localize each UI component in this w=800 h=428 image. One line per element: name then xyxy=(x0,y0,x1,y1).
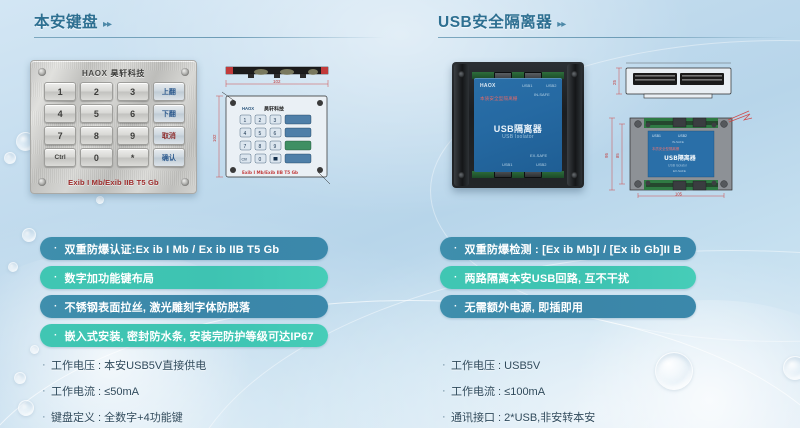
svg-text:HAOX: HAOX xyxy=(242,106,254,111)
bullet-icon: · xyxy=(54,301,58,312)
bullet-icon: · xyxy=(42,359,51,371)
bullet-icon: · xyxy=(454,272,458,283)
keypad-key[interactable]: 8 xyxy=(80,126,112,145)
svg-text:Ctrl: Ctrl xyxy=(242,158,248,162)
feature-pill: · 两路隔离本安USB回路, 互不干扰 xyxy=(440,266,696,289)
spec-item: · 工作电流 : ≤50mA xyxy=(42,383,206,399)
usb-port-label: USB2 xyxy=(546,83,556,88)
spec-text: 工作电流 : ≤100mA xyxy=(451,383,545,399)
bullet-icon: · xyxy=(454,243,458,254)
spec-item: · 工作电压 : 本安USB5V直接供电 xyxy=(42,357,206,373)
chevron-right-icon: ▸▸ xyxy=(103,19,111,30)
spec-text: 工作电流 : ≤50mA xyxy=(51,383,139,399)
water-droplet xyxy=(30,345,39,354)
feature-text: 双重防爆检测 : [Ex ib Mb]I / [Ex ib Gb]II B xyxy=(465,241,682,257)
feature-pill: · 不锈钢表面拉丝, 激光雕刻字体防脱落 xyxy=(40,295,328,318)
svg-text:102: 102 xyxy=(212,134,217,142)
usb-port-label: EX-SAFE xyxy=(530,153,547,158)
header-divider xyxy=(438,37,788,38)
feature-pill: · 嵌入式安装, 密封防水条, 安装完防护等级可达IP67 xyxy=(40,324,328,347)
keypad-certification-label: Exib I Mb/Exib IIB T5 Gb xyxy=(31,178,196,187)
water-droplet xyxy=(14,372,26,384)
svg-text:USB Isolator: USB Isolator xyxy=(668,164,688,168)
svg-text:85: 85 xyxy=(615,153,620,158)
chevron-right-icon: ▸▸ xyxy=(557,19,565,30)
keypad-key[interactable]: 3 xyxy=(117,82,149,101)
usb-faceplate: HAOX 本质安全型隔离栅 USB1 USB2 IN-SAFE USB隔离器 U… xyxy=(474,78,562,172)
spec-item: · 工作电压 : USB5V xyxy=(442,357,595,373)
slide-canvas: 本安键盘 ▸▸ USB安全隔离器 ▸▸ HAOX昊轩科技 1 2 3 上翻 4 … xyxy=(0,0,800,428)
section-header-keypad: 本安键盘 ▸▸ xyxy=(34,10,384,38)
water-droplet xyxy=(655,352,693,390)
product-photo-usb-isolator: HAOX 本质安全型隔离栅 USB1 USB2 IN-SAFE USB隔离器 U… xyxy=(452,62,584,188)
product-photo-keypad: HAOX昊轩科技 1 2 3 上翻 4 5 6 下翻 7 8 9 取消 Ctrl… xyxy=(30,60,197,194)
bullet-icon: · xyxy=(54,243,58,254)
feature-text: 双重防爆认证:Ex ib I Mb / Ex ib IIB T5 Gb xyxy=(65,241,280,257)
spec-list-usb: · 工作电压 : USB5V · 工作电流 : ≤100mA · 通讯接口 : … xyxy=(442,357,595,425)
keypad-key[interactable]: 0 xyxy=(80,148,112,167)
svg-text:IN-SAFE: IN-SAFE xyxy=(672,140,684,144)
svg-text:7: 7 xyxy=(244,144,247,150)
svg-text:4: 4 xyxy=(244,131,247,137)
usb-product-subtitle: USB Isolator xyxy=(474,134,562,140)
usb-mount-rail-right xyxy=(567,64,582,186)
usb-brand-logo: HAOX xyxy=(480,83,496,89)
svg-text:2: 2 xyxy=(259,118,262,124)
keypad-key-page-down[interactable]: 下翻 xyxy=(153,104,185,123)
bullet-icon: · xyxy=(42,385,51,397)
bullet-icon: · xyxy=(442,385,451,397)
keypad-key[interactable]: 2 xyxy=(80,82,112,101)
water-droplet xyxy=(18,400,34,416)
mount-hole-icon xyxy=(571,172,578,179)
usb-port-label: USB1 xyxy=(502,162,512,167)
bullet-icon: · xyxy=(42,411,51,423)
spec-text: 工作电压 : USB5V xyxy=(451,357,540,373)
water-droplet xyxy=(8,262,18,272)
spec-text: 工作电压 : 本安USB5V直接供电 xyxy=(51,357,206,373)
spec-text: 通讯接口 : 2*USB,非安转本安 xyxy=(451,409,595,425)
feature-text: 不锈钢表面拉丝, 激光雕刻字体防脱落 xyxy=(65,299,251,315)
feature-pill: · 无需额外电源, 即插即用 xyxy=(440,295,696,318)
usb-port-label: IN-SAFE xyxy=(534,92,550,97)
bullet-icon: · xyxy=(442,411,451,423)
keypad-key-cancel[interactable]: 取消 xyxy=(153,126,185,145)
svg-text:5: 5 xyxy=(259,131,262,137)
spec-item: · 键盘定义 : 全数字+4功能键 xyxy=(42,409,206,425)
usb-port-label: USB2 xyxy=(536,162,546,167)
keypad-key[interactable]: 4 xyxy=(44,104,76,123)
svg-text:25: 25 xyxy=(612,79,617,85)
svg-text:USB2: USB2 xyxy=(678,134,687,138)
svg-text:EX-SAFE: EX-SAFE xyxy=(673,169,686,173)
water-droplet xyxy=(4,152,16,164)
svg-text:USB1: USB1 xyxy=(652,134,661,138)
bullet-icon: · xyxy=(54,272,58,283)
usb-mount-rail-left xyxy=(454,64,469,186)
keypad-key[interactable]: 9 xyxy=(117,126,149,145)
svg-text:105: 105 xyxy=(675,192,683,197)
feature-text: 两路隔离本安USB回路, 互不干扰 xyxy=(465,270,630,286)
usb-red-caption: 本质安全型隔离栅 xyxy=(480,96,518,102)
feature-list-usb: · 双重防爆检测 : [Ex ib Mb]I / [Ex ib Gb]II B … xyxy=(440,237,696,318)
water-droplet xyxy=(96,196,104,204)
svg-text:0: 0 xyxy=(259,157,262,163)
usb-drawing-svg: 25 USB1 USB2 IN-SAFE 本质安全型隔离栅 USB隔离器 USB… xyxy=(600,58,796,198)
svg-text:3: 3 xyxy=(274,118,277,124)
spec-item: · 通讯接口 : 2*USB,非安转本安 xyxy=(442,409,595,425)
spec-list-keypad: · 工作电压 : 本安USB5V直接供电 · 工作电流 : ≤50mA · 键盘… xyxy=(42,357,206,425)
keypad-key-grid: 1 2 3 上翻 4 5 6 下翻 7 8 9 取消 Ctrl 0 * 确认 xyxy=(44,82,185,167)
keypad-key[interactable]: 7 xyxy=(44,126,76,145)
feature-pill: · 双重防爆认证:Ex ib I Mb / Ex ib IIB T5 Gb xyxy=(40,237,328,260)
feature-list-keypad: · 双重防爆认证:Ex ib I Mb / Ex ib IIB T5 Gb · … xyxy=(40,237,328,347)
svg-text:本质安全型隔离栅: 本质安全型隔离栅 xyxy=(652,146,680,151)
feature-text: 嵌入式安装, 密封防水条, 安装完防护等级可达IP67 xyxy=(65,328,314,344)
water-droplet xyxy=(22,228,36,242)
svg-text:8: 8 xyxy=(259,144,262,150)
svg-text:1: 1 xyxy=(244,118,247,124)
feature-pill: · 双重防爆检测 : [Ex ib Mb]I / [Ex ib Gb]II B xyxy=(440,237,696,260)
keypad-key[interactable]: 1 xyxy=(44,82,76,101)
bullet-icon: · xyxy=(442,359,451,371)
feature-text: 数字加功能键布局 xyxy=(65,270,155,286)
mount-hole-icon xyxy=(458,172,465,179)
keypad-key[interactable]: * xyxy=(117,148,149,167)
svg-text:6: 6 xyxy=(274,131,277,137)
keypad-key-confirm[interactable]: 确认 xyxy=(153,148,185,167)
usb-port-label: USB1 xyxy=(522,83,532,88)
svg-text:102: 102 xyxy=(273,79,281,84)
svg-text:昊轩科技: 昊轩科技 xyxy=(263,106,285,113)
keypad-key-ctrl[interactable]: Ctrl xyxy=(44,148,76,167)
technical-drawing-keypad: 102 HAOX 昊轩科技 1 2 3 4 5 xyxy=(212,58,342,193)
keypad-key[interactable]: 5 xyxy=(80,104,112,123)
mount-hole-icon xyxy=(458,71,465,78)
usb-pcb-edge-bottom xyxy=(472,171,564,178)
keypad-drawing-svg: 102 HAOX 昊轩科技 1 2 3 4 5 xyxy=(212,58,342,193)
section-header-usb: USB安全隔离器 ▸▸ xyxy=(438,10,788,38)
spec-item: · 工作电流 : ≤100mA xyxy=(442,383,595,399)
header-divider xyxy=(34,37,384,38)
spec-text: 键盘定义 : 全数字+4功能键 xyxy=(51,409,183,425)
svg-text:USB隔离器: USB隔离器 xyxy=(664,154,697,162)
keypad-key-page-up[interactable]: 上翻 xyxy=(153,82,185,101)
svg-text:9: 9 xyxy=(274,144,277,150)
water-droplet xyxy=(783,356,800,380)
technical-drawing-usb: 25 USB1 USB2 IN-SAFE 本质安全型隔离栅 USB隔离器 USB… xyxy=(600,58,796,198)
page-title-keypad: 本安键盘 xyxy=(34,10,98,32)
svg-text:95: 95 xyxy=(604,152,609,158)
bullet-icon: · xyxy=(454,301,458,312)
bullet-icon: · xyxy=(54,330,58,341)
keypad-brand-logo: HAOX昊轩科技 xyxy=(31,68,196,79)
feature-pill: · 数字加功能键布局 xyxy=(40,266,328,289)
feature-text: 无需额外电源, 即插即用 xyxy=(465,299,584,315)
page-title-usb: USB安全隔离器 xyxy=(438,10,552,32)
svg-text:Exib I Mb/Exib IIB T5 Gb: Exib I Mb/Exib IIB T5 Gb xyxy=(242,170,298,175)
keypad-key[interactable]: 6 xyxy=(117,104,149,123)
mount-hole-icon xyxy=(571,71,578,78)
